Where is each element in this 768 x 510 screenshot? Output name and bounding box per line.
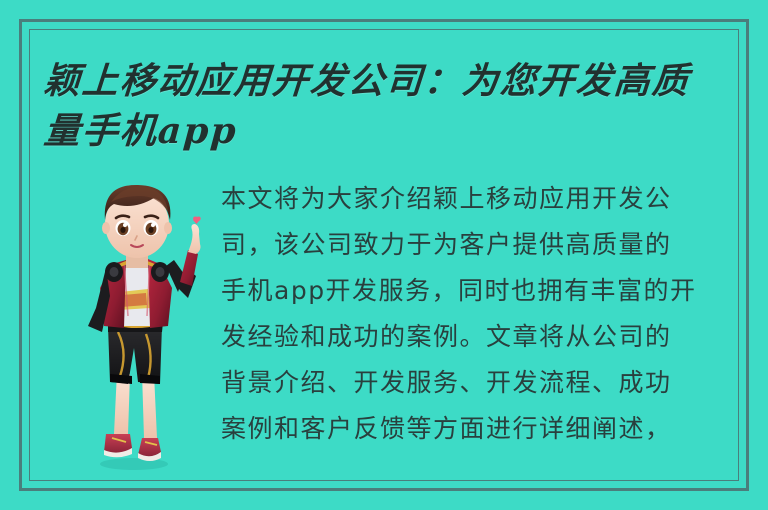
chibi-boy-character-illustration (62, 176, 212, 476)
body-line-1: 本文将为大家介绍颖上移动应用开发公 (221, 176, 736, 222)
character-arm-heart-gesture (180, 216, 201, 286)
title-line-2: 量手机app (42, 106, 735, 156)
body-line-4: 发经验和成功的案例。文章将从公司的 (221, 314, 736, 360)
character-shoes (104, 434, 161, 461)
character-eye-left (116, 220, 131, 236)
character-ground-shadow (100, 458, 168, 470)
character-eye-right (144, 220, 159, 236)
body-line-2: 司，该公司致力于为客户提供高质量的 (221, 222, 736, 268)
page-title: 颖上移动应用开发公司：为您开发高质 量手机app (44, 56, 734, 156)
body-line-3: 手机app开发服务，同时也拥有丰富的开 (221, 268, 736, 314)
character-head (102, 185, 172, 258)
title-line-1: 颖上移动应用开发公司：为您开发高质 (42, 56, 735, 106)
body-paragraph: 本文将为大家介绍颖上移动应用开发公 司，该公司致力于为客户提供高质量的 手机ap… (221, 176, 736, 452)
body-line-5: 背景介绍、开发服务、开发流程、成功 (221, 360, 736, 406)
body-line-6: 案例和客户反馈等方面进行详细阐述， (221, 406, 736, 452)
poster-canvas: 颖上移动应用开发公司：为您开发高质 量手机app (0, 0, 768, 510)
character-shorts (108, 326, 162, 384)
